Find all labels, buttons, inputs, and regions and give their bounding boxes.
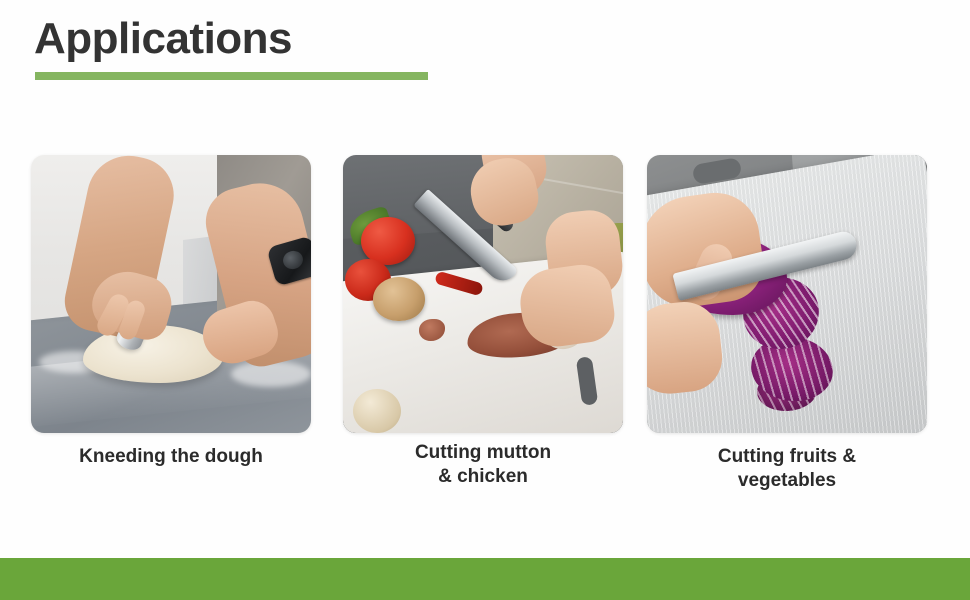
tomato-shape: [361, 217, 415, 265]
card-image-kneading-the-dough: [31, 155, 311, 433]
flour-dust-shape: [231, 361, 311, 387]
applications-card-row: Kneeding the dough Cut: [0, 155, 970, 435]
application-card-cutting-mutton-chicken[interactable]: Cutting mutton & chicken: [343, 155, 623, 435]
egg-shape: [353, 389, 401, 433]
application-card-kneading-the-dough[interactable]: Kneeding the dough: [31, 155, 311, 435]
card-caption-cutting-fruits-vegetables: Cutting fruits & vegetables: [647, 445, 927, 493]
application-card-cutting-fruits-vegetables[interactable]: Cutting fruits & vegetables: [647, 155, 927, 435]
onion-shape: [373, 277, 425, 321]
card-image-cutting-mutton-chicken: [343, 155, 623, 433]
header-block: Applications: [0, 0, 970, 100]
card-caption-cutting-mutton-chicken: Cutting mutton & chicken: [343, 441, 623, 489]
title-underline-accent: [35, 72, 428, 80]
card-image-cutting-fruits-vegetables: [647, 155, 927, 433]
footer-accent-bar: [0, 558, 970, 600]
card-caption-kneading-the-dough: Kneeding the dough: [31, 445, 311, 469]
page-title: Applications: [34, 8, 292, 70]
